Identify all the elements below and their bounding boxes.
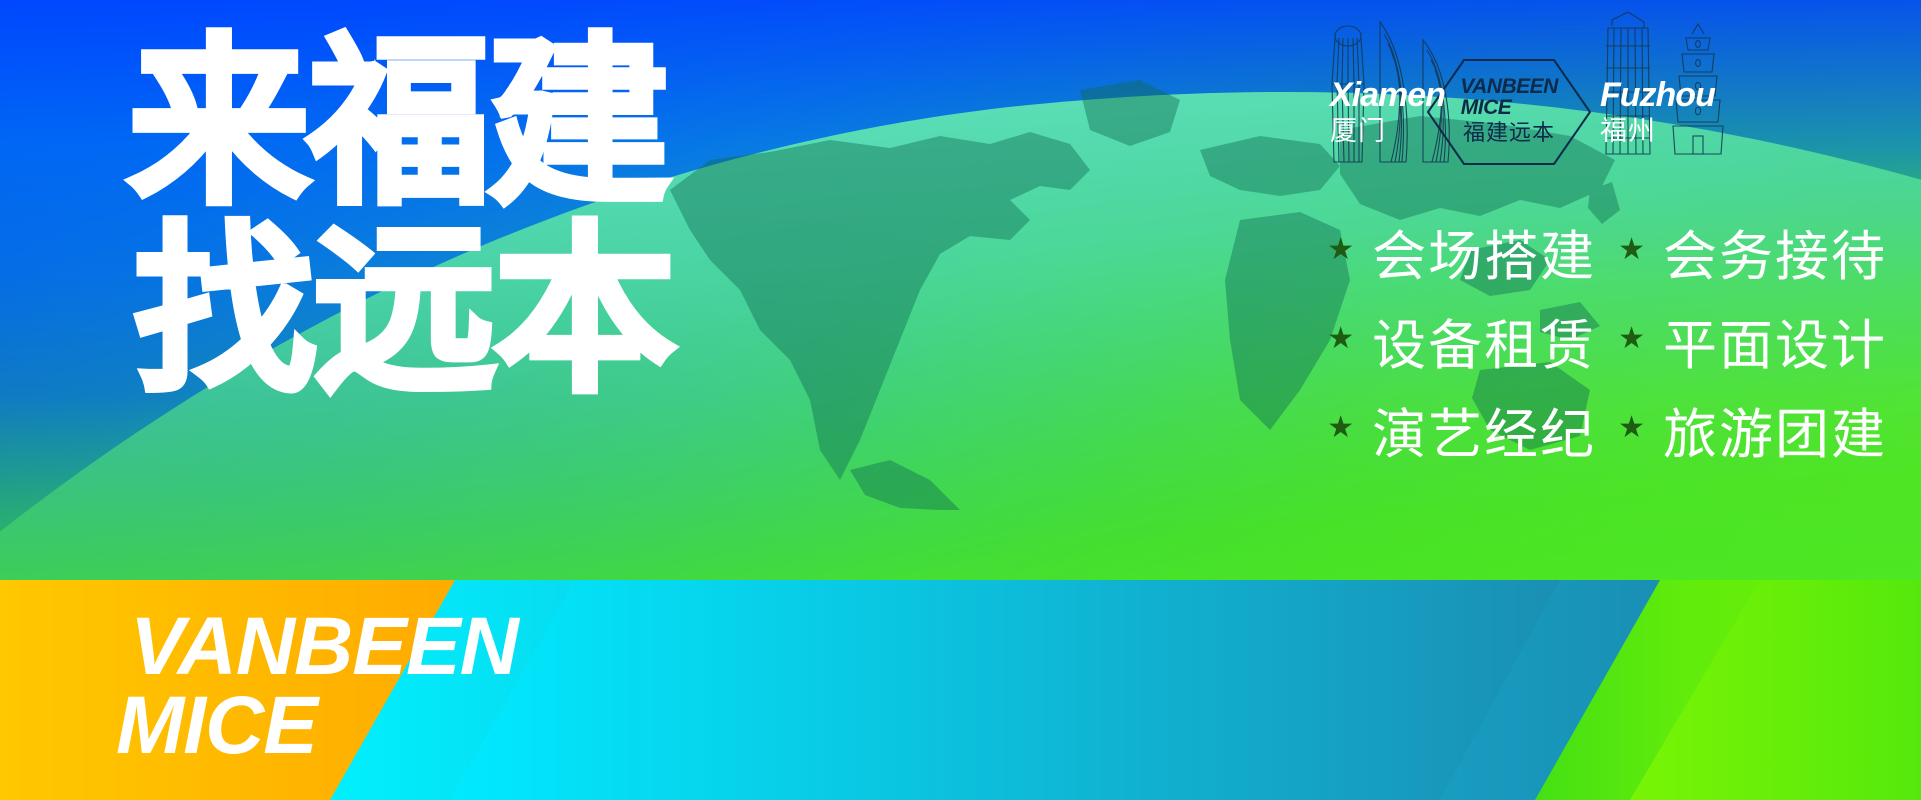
city-fuzhou-cn: 福州: [1600, 115, 1715, 149]
service-label: 设备租赁: [1372, 301, 1596, 380]
services-row: ★ 演艺经纪 ★ 旅游团建: [1327, 390, 1887, 469]
service-item: ★ 平面设计: [1618, 301, 1887, 380]
promotional-banner: 来福建 找远本 ★ 会场搭建 ★ 会务接待 ★ 设备租赁 ★ 平面设计: [0, 0, 1921, 800]
service-item: ★ 会场搭建: [1327, 212, 1596, 291]
service-label: 平面设计: [1663, 301, 1887, 380]
service-label: 演艺经纪: [1372, 390, 1596, 469]
headline-line-2: 找远本: [134, 222, 748, 400]
vanbeen-hexagon-logo: VANBEEN MICE 福建远本: [1424, 56, 1594, 173]
services-row: ★ 设备租赁 ★ 平面设计: [1327, 301, 1887, 380]
service-label: 会务接待: [1663, 212, 1887, 291]
service-item: ★ 设备租赁: [1327, 301, 1596, 380]
hexagon-logo-en-line1: VANBEEN: [1460, 76, 1558, 97]
service-label: 会场搭建: [1372, 212, 1596, 291]
service-item: ★ 演艺经纪: [1327, 390, 1596, 469]
star-icon: ★: [1618, 413, 1645, 443]
service-item: ★ 旅游团建: [1618, 390, 1887, 469]
footer-bar: VANBEEN MICE: [0, 580, 1921, 800]
hexagon-logo-cn: 福建远本: [1463, 120, 1555, 148]
star-icon: ★: [1327, 324, 1354, 354]
city-xiamen-en: Xiamen: [1330, 78, 1445, 112]
headline-line-1: 来福建: [128, 34, 748, 212]
star-icon: ★: [1618, 235, 1645, 265]
city-xiamen-cn: 厦门: [1330, 115, 1445, 149]
hexagon-logo-en-line2: MICE: [1461, 97, 1512, 119]
services-row: ★ 会场搭建 ★ 会务接待: [1327, 212, 1887, 291]
page-title: 来福建 找远本: [128, 34, 748, 401]
service-label: 旅游团建: [1663, 390, 1887, 469]
footer-brand-line2: MICE: [116, 687, 518, 766]
services-list: ★ 会场搭建 ★ 会务接待 ★ 设备租赁 ★ 平面设计 ★ 演艺经纪: [1327, 212, 1887, 469]
star-icon: ★: [1618, 324, 1645, 354]
star-icon: ★: [1327, 413, 1354, 443]
star-icon: ★: [1327, 235, 1354, 265]
city-fuzhou-en: Fuzhou: [1600, 78, 1715, 112]
city-label-xiamen: Xiamen 厦门: [1330, 78, 1445, 149]
footer-brand-logo: VANBEEN MICE: [130, 608, 518, 765]
service-item: ★ 会务接待: [1618, 212, 1887, 291]
city-label-fuzhou: Fuzhou 福州: [1600, 78, 1715, 149]
footer-brand-line1: VANBEEN: [130, 608, 518, 687]
